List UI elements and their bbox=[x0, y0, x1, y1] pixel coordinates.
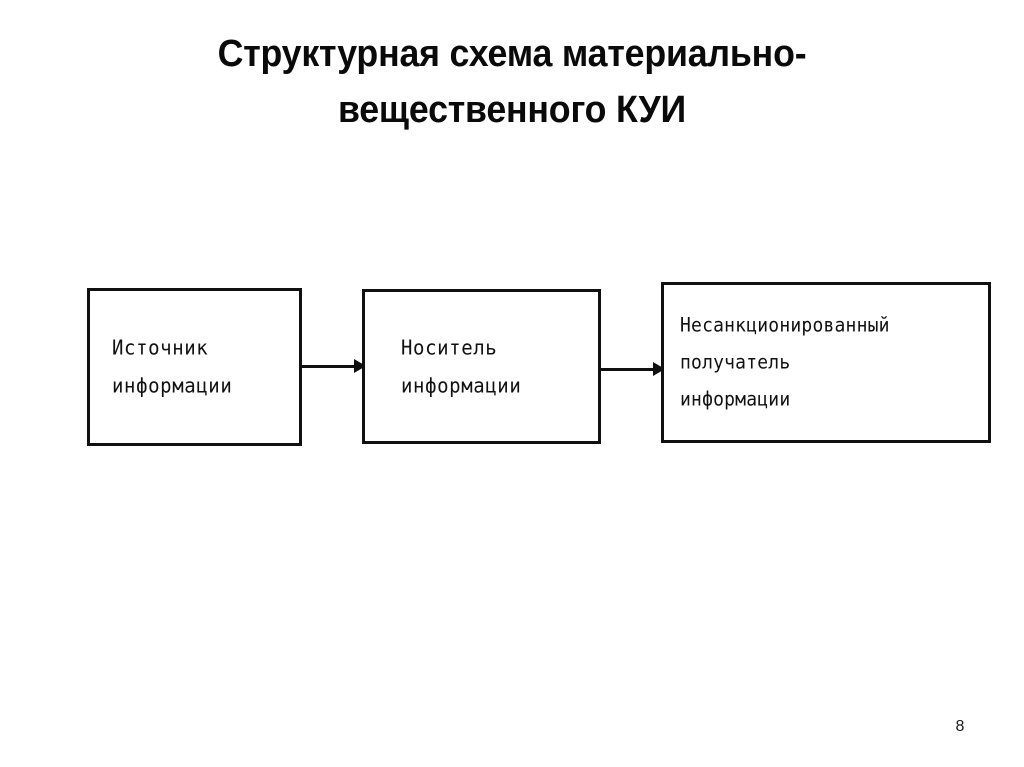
diagram-node-carrier-line-1: Носитель bbox=[401, 327, 598, 368]
diagram-node-recipient-line-2: получатель bbox=[680, 343, 988, 383]
diagram-node-carrier: Носитель информации bbox=[362, 289, 601, 444]
page-number: 8 bbox=[940, 718, 980, 736]
diagram-arrow-source-to-carrier bbox=[299, 358, 365, 374]
diagram-node-recipient-line-1: Несанкционированный bbox=[680, 306, 988, 346]
diagram-node-recipient-line-3: информации bbox=[680, 380, 988, 420]
diagram-node-unauthorized-recipient: Несанкционированный получатель информаци… bbox=[661, 282, 991, 443]
block-flow-diagram: Источник информации Носитель информации … bbox=[0, 0, 1024, 767]
diagram-arrow-carrier-to-recipient bbox=[599, 361, 664, 377]
diagram-node-carrier-line-2: информации bbox=[401, 365, 598, 406]
diagram-node-source-line-1: Источник bbox=[112, 327, 299, 368]
diagram-node-source: Источник информации bbox=[87, 288, 302, 446]
diagram-node-source-line-2: информации bbox=[112, 365, 299, 406]
